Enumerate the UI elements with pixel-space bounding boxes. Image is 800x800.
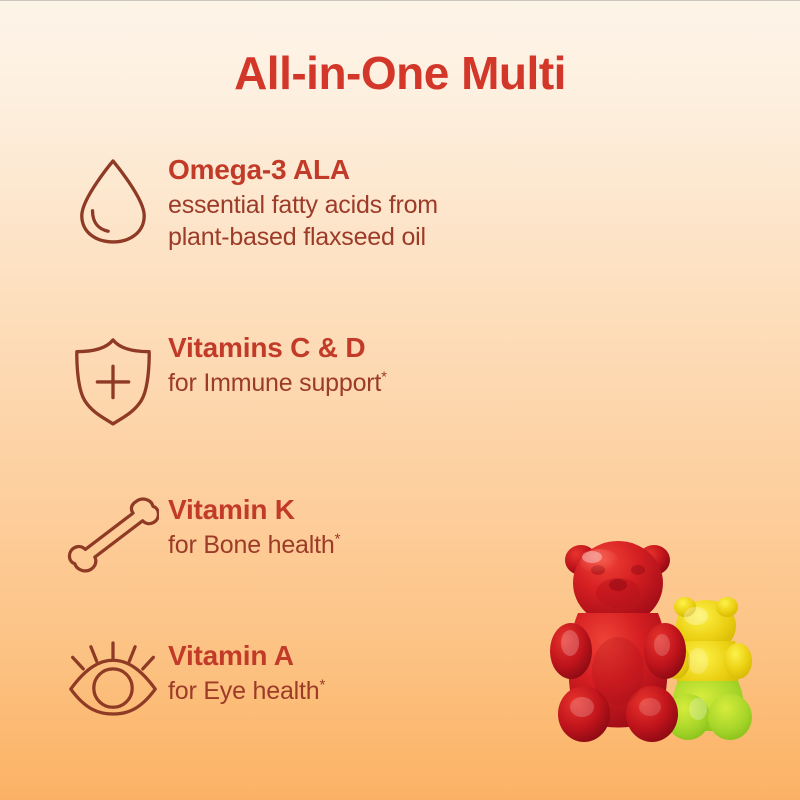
- feature-title: Vitamin A: [168, 639, 578, 673]
- footnote-asterisk: *: [381, 368, 387, 385]
- gummy-bears-photo: [548, 521, 778, 771]
- feature-row-vitamins-c-and-d: Vitamins C & D for Immune support*: [58, 331, 578, 427]
- droplet-icon: [58, 153, 168, 245]
- feature-description-line: for Immune support*: [168, 367, 578, 400]
- feature-description-line: for Eye health*: [168, 675, 578, 708]
- red-gummy-bear: [550, 541, 686, 742]
- eye-icon: [58, 639, 168, 716]
- feature-description-line: essential fatty acids from: [168, 189, 578, 222]
- feature-text-vitamins-c-and-d: Vitamins C & D for Immune support*: [168, 331, 578, 399]
- feature-text-omega-3-ala: Omega-3 ALA essential fatty acids from p…: [168, 153, 578, 254]
- feature-description: essential fatty acids from plant-based f…: [168, 189, 578, 254]
- feature-text-vitamin-a: Vitamin A for Eye health*: [168, 639, 578, 707]
- feature-description: for Immune support*: [168, 367, 578, 400]
- feature-description: for Bone health*: [168, 529, 578, 562]
- feature-row-vitamin-k: Vitamin K for Bone health*: [58, 493, 578, 579]
- feature-description: for Eye health*: [168, 675, 578, 708]
- feature-description-text: for Eye health: [168, 677, 319, 705]
- footnote-asterisk: *: [335, 530, 341, 547]
- bone-icon: [58, 493, 168, 579]
- feature-description-text: for Immune support: [168, 369, 381, 397]
- feature-description-text: for Bone health: [168, 531, 335, 559]
- shield-plus-icon: [58, 331, 168, 427]
- feature-row-omega-3-ala: Omega-3 ALA essential fatty acids from p…: [58, 153, 578, 254]
- feature-title: Omega-3 ALA: [168, 153, 578, 187]
- feature-title: Vitamin K: [168, 493, 578, 527]
- feature-description-line: plant-based flaxseed oil: [168, 221, 578, 254]
- product-infographic: All-in-One Multi Omega-3 ALA essential f…: [0, 0, 800, 800]
- footnote-asterisk: *: [319, 676, 325, 693]
- feature-text-vitamin-k: Vitamin K for Bone health*: [168, 493, 578, 561]
- feature-title: Vitamins C & D: [168, 331, 578, 365]
- feature-description-line: for Bone health*: [168, 529, 578, 562]
- feature-row-vitamin-a: Vitamin A for Eye health*: [58, 639, 578, 716]
- page-title: All-in-One Multi: [0, 46, 800, 100]
